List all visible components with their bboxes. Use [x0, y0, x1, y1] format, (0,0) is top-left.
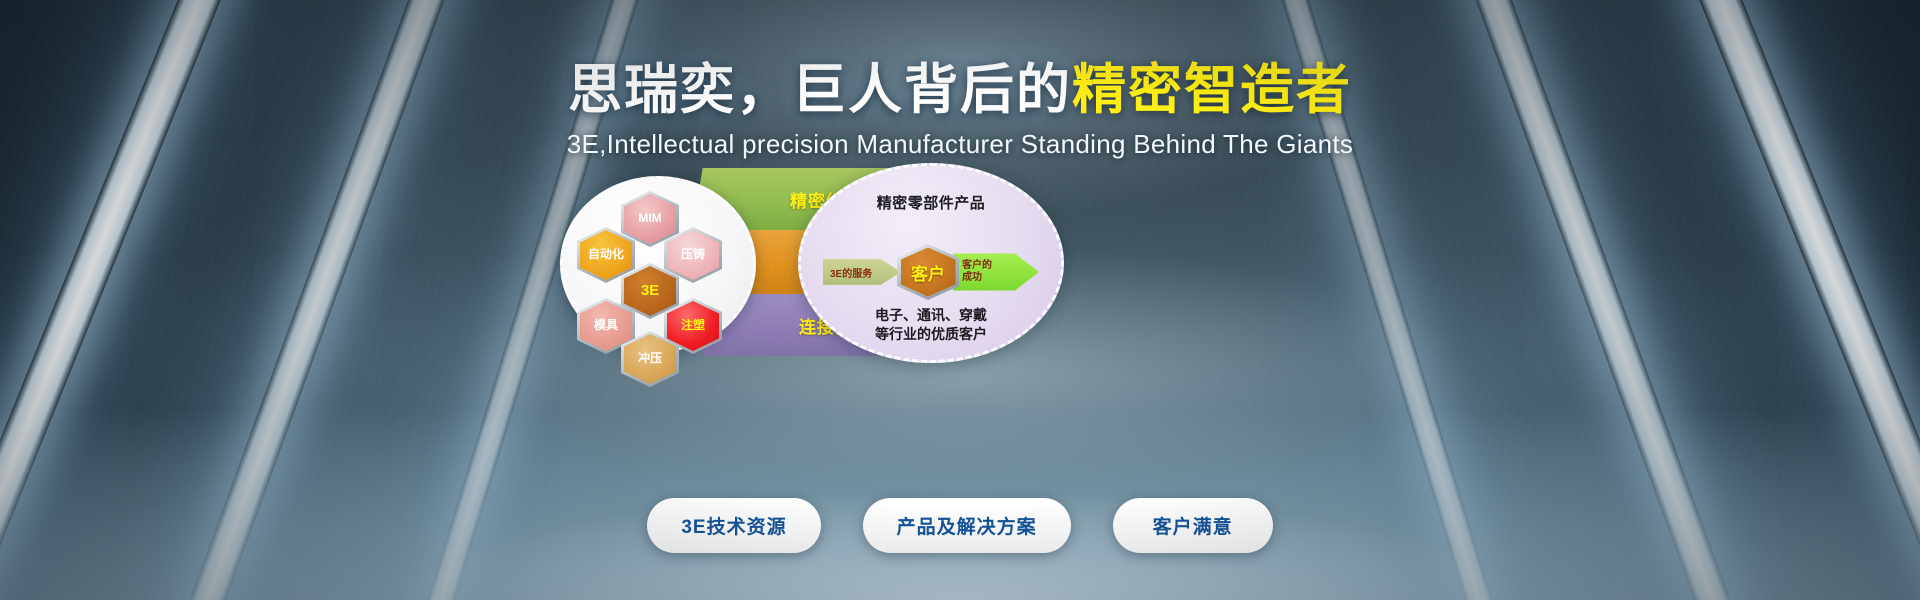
headline-highlight-text: 精密智造者 — [1072, 58, 1352, 121]
button-tech-resources[interactable]: 3E技术资源 — [647, 498, 820, 553]
cta-button-row: 3E技术资源 产品及解决方案 客户满意 — [0, 498, 1920, 553]
hex-label: 压铸 — [667, 230, 719, 280]
industries-line2: 等行业的优质客户 — [875, 326, 987, 342]
hex-label: 客户 — [901, 248, 956, 297]
arrow-customer-success: 客户的成功 — [953, 251, 1039, 293]
page-title: 思瑞奕，巨人背后的精密智造者 — [0, 62, 1920, 119]
hex-customer: 客户 — [897, 244, 959, 300]
button-products-solutions[interactable]: 产品及解决方案 — [863, 498, 1071, 553]
arrow-label-line1: 客户的 — [962, 260, 992, 271]
headline-block: 思瑞奕，巨人背后的精密智造者 3E,Intellectual precision… — [0, 62, 1920, 160]
ellipse-title: 精密零部件产品 — [801, 192, 1061, 213]
hex-label: 自动化 — [580, 230, 632, 280]
headline-main-text: 思瑞奕，巨人背后的 — [568, 58, 1072, 121]
process-diagram: 精密组件 MIM 连接器 MIM 自动化 压铸 3E — [560, 168, 1080, 358]
page-subtitle: 3E,Intellectual precision Manufacturer S… — [0, 129, 1920, 160]
industries-line1: 电子、通讯、穿戴 — [875, 307, 987, 323]
arrow-label: 3E的服务 — [830, 265, 872, 280]
arrow-label: 客户的成功 — [962, 260, 992, 284]
customer-flow: 3E的服务 客户 客户的成功 — [801, 246, 1061, 298]
customer-ellipse: 精密零部件产品 3E的服务 客户 客户的成功 电子、通讯、穿戴 等行业的优质客户 — [798, 163, 1064, 363]
capability-hex-circle: MIM 自动化 压铸 3E 模具 注塑 冲压 — [560, 176, 756, 352]
ellipse-industries: 电子、通讯、穿戴 等行业的优质客户 — [801, 306, 1061, 344]
hex-label: 冲压 — [624, 334, 676, 384]
arrow-label-line2: 成功 — [962, 272, 982, 283]
hex-label: MIM — [624, 194, 676, 244]
hero-banner: 思瑞奕，巨人背后的精密智造者 3E,Intellectual precision… — [0, 0, 1920, 600]
hex-label: 3E — [624, 266, 676, 316]
arrow-3e-service: 3E的服务 — [823, 255, 901, 289]
button-customer-satisfaction[interactable]: 客户满意 — [1113, 498, 1273, 553]
